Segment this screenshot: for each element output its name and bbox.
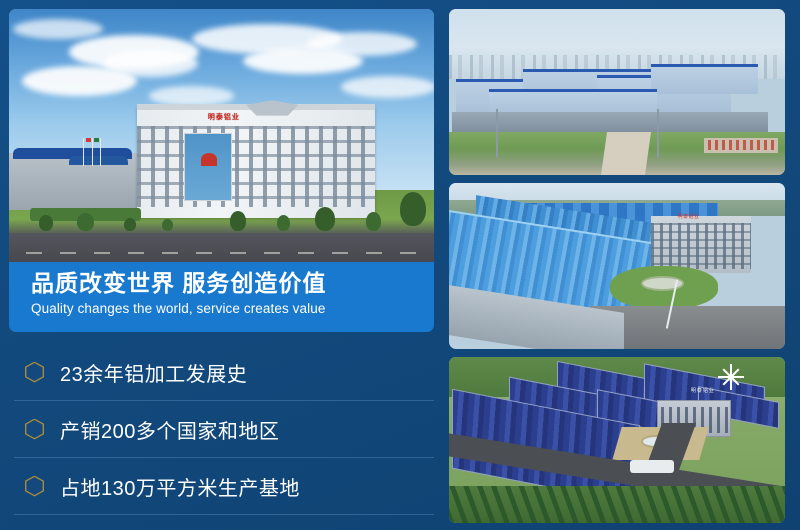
hexagon-icon	[25, 419, 44, 440]
slogan-headline-cn: 品质改变世界 服务创造价值	[31, 269, 434, 298]
tree	[400, 192, 426, 226]
hexagon-icon	[25, 476, 44, 497]
workshop-facade	[452, 112, 768, 132]
parked-vehicles	[708, 140, 775, 150]
feature-item[interactable]: 产销200多个国家和地区	[14, 401, 434, 458]
window-grid	[137, 126, 375, 207]
window-grid	[651, 223, 752, 269]
office-tower: 明泰铝业	[137, 107, 375, 218]
cloud-shape	[307, 32, 417, 56]
power-pylon	[496, 109, 498, 159]
tree	[77, 213, 94, 231]
flagpole	[100, 138, 101, 166]
cloud-shape	[341, 76, 435, 98]
company-emblem	[201, 153, 218, 166]
tree	[277, 215, 290, 231]
tree	[162, 219, 173, 231]
access-road	[601, 132, 651, 175]
flag	[86, 138, 91, 142]
tree	[315, 207, 335, 231]
fountain	[641, 276, 685, 291]
feature-list: 23余年铝加工发展史 产销200多个国家和地区 占地130万平方米生产基地	[14, 344, 434, 515]
aerial-factory-wide-view-photo	[449, 9, 785, 175]
starburst-icon	[718, 364, 744, 390]
rendering-logo-text: 明泰铝业	[691, 387, 715, 394]
feature-item-label: 23余年铝加工发展史	[60, 358, 247, 387]
promo-banner-page: 明泰铝业 品质改变世界 服务创造价值 Quality changes the w…	[0, 0, 800, 530]
flagpole	[92, 138, 93, 166]
feature-item-label: 占地130万平方米生产基地	[60, 472, 300, 501]
tree	[39, 215, 53, 231]
slogan-subline-en: Quality changes the world, service creat…	[31, 301, 434, 316]
flagpole	[83, 138, 84, 166]
glass-atrium	[184, 133, 232, 201]
tree	[366, 212, 381, 231]
power-pylon	[657, 109, 659, 159]
flag	[94, 138, 99, 142]
hexagon-icon	[25, 362, 44, 383]
slogan-banner: 品质改变世界 服务创造价值 Quality changes the world,…	[9, 262, 434, 332]
aerial-blue-roof-workshops-photo: 明泰铝业	[449, 183, 785, 349]
headquarters-office-building-photo: 明泰铝业	[9, 9, 434, 267]
cloud-shape	[22, 66, 137, 96]
feature-item-label: 产销200多个国家和地区	[60, 415, 279, 444]
building-sign-text: 明泰铝业	[208, 112, 240, 122]
entrance-gate	[630, 460, 674, 473]
factory-rendering-birdseye-photo: 明泰铝业	[449, 357, 785, 523]
workshop-blue-roof	[69, 156, 129, 165]
building-sign-text: 明泰铝业	[677, 213, 699, 220]
tree	[124, 218, 136, 231]
right-column: 明泰铝业 明泰铝业	[449, 9, 785, 521]
left-column: 明泰铝业 品质改变世界 服务创造价值 Quality changes the w…	[9, 9, 434, 521]
road-marking	[26, 252, 417, 254]
tree	[230, 211, 246, 231]
roadside-trees	[449, 486, 785, 523]
feature-item[interactable]: 占地130万平方米生产基地	[14, 458, 434, 515]
blue-roof-block	[651, 64, 759, 94]
feature-item[interactable]: 23余年铝加工发展史	[14, 344, 434, 401]
